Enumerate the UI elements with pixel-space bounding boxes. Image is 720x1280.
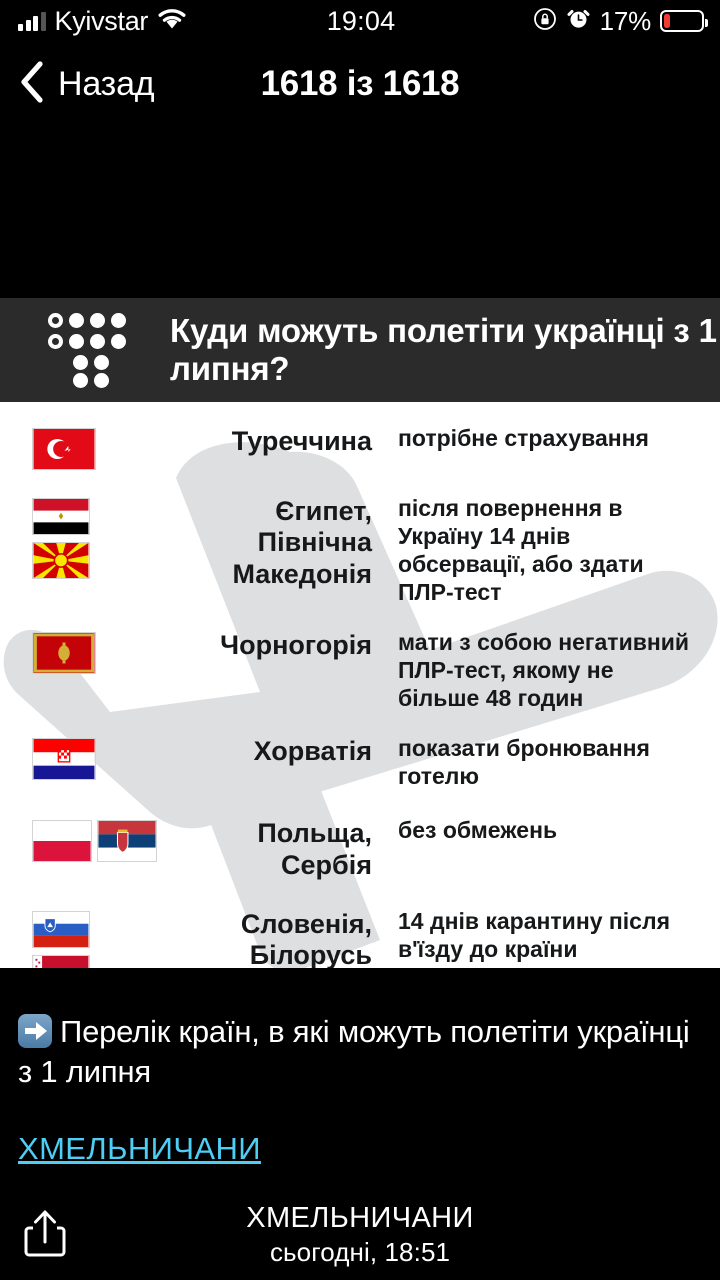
dot-grid-logo-icon <box>48 313 126 387</box>
infographic-body: Туреччина потрібне страхування <box>0 402 720 968</box>
flag-egypt-icon <box>32 498 90 535</box>
battery-percent-label: 17% <box>600 6 651 37</box>
row-country: Єгипет, Північна Македонія <box>200 494 372 590</box>
row-flags <box>0 816 200 862</box>
row-flags <box>0 734 200 780</box>
flag-north-macedonia-icon <box>32 542 90 579</box>
channel-link[interactable]: ХМЕЛЬНИЧАНИ <box>18 1131 702 1167</box>
row-flags <box>0 628 200 674</box>
flag-turkey-icon <box>32 428 96 470</box>
alarm-clock-icon <box>566 6 591 36</box>
share-icon <box>24 1208 66 1263</box>
row-country: Польща, Сербія <box>200 816 372 881</box>
flag-poland-icon <box>32 820 92 862</box>
caption-body: Перелік країн, в які можуть полетіти укр… <box>18 1014 690 1089</box>
row-note: показати бронювання готелю <box>372 734 720 790</box>
message-timestamp: сьогодні, 18:51 <box>0 1237 720 1268</box>
caption-text-line: Перелік країн, в які можуть полетіти укр… <box>18 1012 702 1091</box>
row-note: мати з собою негативний ПЛР-тест, якому … <box>372 628 720 712</box>
row-flags <box>0 494 200 579</box>
toolbar-meta: ХМЕЛЬНИЧАНИ сьогодні, 18:51 <box>0 1202 720 1268</box>
row-country: Туреччина <box>200 424 372 457</box>
share-button[interactable] <box>0 1208 66 1263</box>
row-flags <box>0 907 200 968</box>
row-note: після повернення в Україну 14 днів обсер… <box>372 494 720 606</box>
table-row: Словенія, Білорусь 14 днів карантину піс… <box>0 907 720 968</box>
table-row: Польща, Сербія без обмежень <box>0 816 720 881</box>
table-row: Чорногорія мати з собою негативний ПЛР-т… <box>0 628 720 712</box>
rotation-lock-icon <box>533 7 557 36</box>
table-row: Хорватія показати бронювання готелю <box>0 734 720 790</box>
phone-screen: Kyivstar 19:04 <box>0 0 720 1280</box>
row-note: 14 днів карантину після в'їзду до країни <box>372 907 720 963</box>
wifi-icon <box>157 8 187 35</box>
status-bar-center: 19:04 <box>327 6 396 37</box>
row-country: Словенія, Білорусь <box>200 907 372 968</box>
channel-name: ХМЕЛЬНИЧАНИ <box>0 1202 720 1235</box>
flag-montenegro-icon <box>32 632 96 674</box>
back-button[interactable]: Назад <box>0 60 154 109</box>
table-row: Туреччина потрібне страхування <box>0 424 720 470</box>
row-note: потрібне страхування <box>372 424 720 452</box>
row-country: Хорватія <box>200 734 372 767</box>
navigation-bar: Назад 1618 із 1618 <box>0 42 720 126</box>
flag-serbia-icon <box>97 820 157 862</box>
infographic-header: Куди можуть полетіти українці з 1 липня? <box>0 298 720 402</box>
flag-belarus-icon <box>32 955 90 968</box>
row-country: Чорногорія <box>200 628 372 661</box>
row-flags <box>0 424 200 470</box>
table-row: Єгипет, Північна Македонія після поверне… <box>0 494 720 606</box>
status-bar-right: 17% <box>395 6 720 37</box>
infographic-rows: Туреччина потрібне страхування <box>0 402 720 968</box>
status-bar: Kyivstar 19:04 <box>0 0 720 42</box>
signal-bars-icon <box>18 12 46 31</box>
post-caption: Перелік країн, в які можуть полетіти укр… <box>0 1012 720 1167</box>
carrier-label: Kyivstar <box>55 6 149 37</box>
battery-icon <box>660 10 704 32</box>
status-bar-left: Kyivstar <box>0 6 327 37</box>
clock-label: 19:04 <box>327 6 396 37</box>
row-note: без обмежень <box>372 816 720 844</box>
chevron-left-icon <box>18 60 44 109</box>
flag-slovenia-icon <box>32 911 90 948</box>
flag-croatia-icon <box>32 738 96 780</box>
right-arrow-emoji-icon <box>18 1014 52 1048</box>
infographic-image[interactable]: Куди можуть полетіти українці з 1 липня? <box>0 298 720 968</box>
infographic-title: Куди можуть полетіти українці з 1 липня? <box>170 312 720 389</box>
back-button-label: Назад <box>58 65 154 104</box>
bottom-toolbar: ХМЕЛЬНИЧАНИ сьогодні, 18:51 <box>0 1190 720 1280</box>
